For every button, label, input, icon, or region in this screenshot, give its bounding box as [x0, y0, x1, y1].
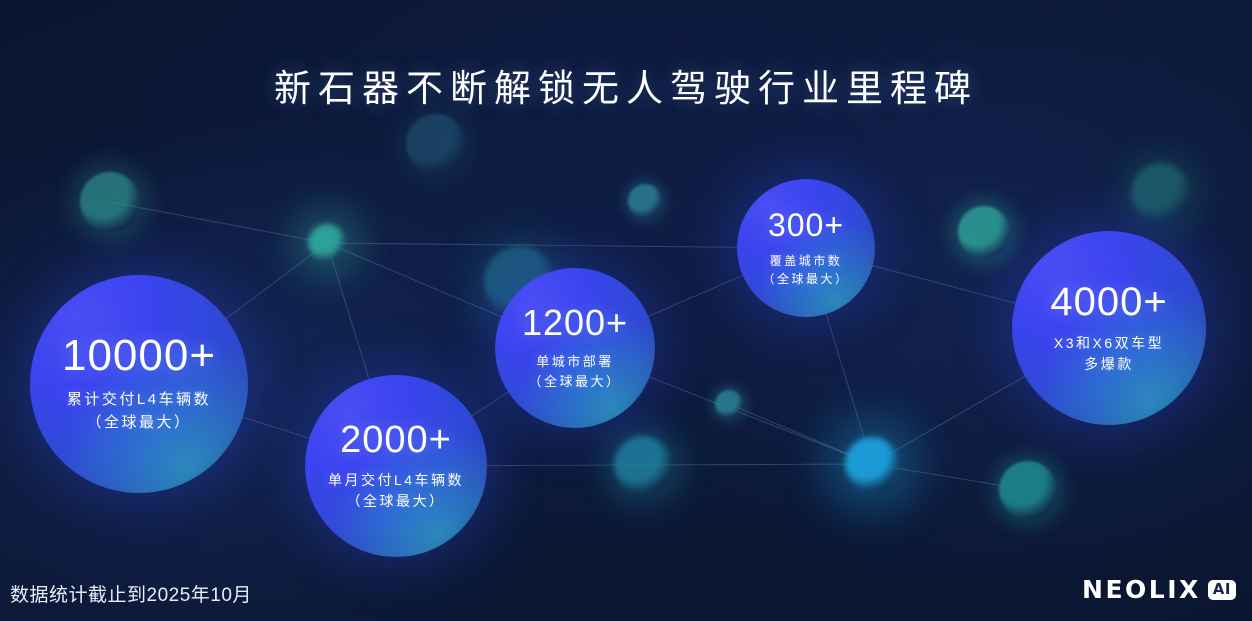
stat-label-line: 单月交付L4车辆数 [328, 470, 464, 491]
stat-label: 覆盖城市数（全球最大） [762, 252, 849, 288]
stat-label: X3和X6双车型多爆款 [1054, 333, 1164, 375]
stat-label-line: （全球最大） [528, 372, 621, 392]
stat-label-line: 累计交付L4车辆数 [67, 389, 211, 412]
logo-ai-badge: AI [1208, 580, 1236, 600]
stat-label-line: X3和X6双车型 [1054, 333, 1164, 354]
connection-line [643, 464, 872, 465]
decorative-node [614, 436, 672, 494]
decorative-node [1131, 163, 1191, 223]
stat-label-line: （全球最大） [328, 491, 464, 512]
decorative-node [845, 437, 899, 491]
infographic-canvas: 新石器不断解锁无人驾驶行业里程碑 10000+累计交付L4车辆数（全球最大）20… [0, 0, 1252, 621]
stat-value: 1200+ [522, 305, 628, 341]
decorative-node [80, 172, 140, 232]
data-cutoff-note: 数据统计截止到2025年10月 [10, 580, 252, 607]
neolix-logo: NEOLIX AI [1082, 575, 1236, 604]
stat-value: 2000+ [340, 421, 452, 459]
logo-wordmark: NEOLIX [1082, 575, 1201, 604]
stat-label-line: 单城市部署 [528, 352, 621, 372]
stat-value: 4000+ [1050, 282, 1167, 322]
stat-value: 10000+ [62, 334, 216, 378]
decorative-node [715, 390, 743, 418]
decorative-node [628, 184, 662, 218]
decorative-node [308, 224, 346, 262]
decorative-node [958, 206, 1010, 258]
stat-label-line: （全球最大） [762, 270, 849, 288]
connection-line [327, 243, 806, 248]
stat-label: 单城市部署（全球最大） [528, 352, 621, 391]
decorative-node [999, 461, 1057, 519]
stat-value: 300+ [768, 209, 844, 241]
stat-bubble-cities-covered[interactable]: 300+覆盖城市数（全球最大） [737, 179, 875, 317]
stat-label-line: 覆盖城市数 [762, 252, 849, 270]
stat-label-line: （全球最大） [67, 412, 211, 435]
stat-bubble-cumulative-delivery[interactable]: 10000+累计交付L4车辆数（全球最大） [30, 275, 248, 493]
stat-label: 累计交付L4车辆数（全球最大） [67, 389, 211, 434]
stat-bubble-monthly-delivery[interactable]: 2000+单月交付L4车辆数（全球最大） [305, 375, 487, 557]
stat-label-line: 多爆款 [1054, 354, 1164, 375]
page-title: 新石器不断解锁无人驾驶行业里程碑 [0, 58, 1252, 112]
connection-line [110, 202, 327, 243]
stat-bubble-single-city-deployment[interactable]: 1200+单城市部署（全球最大） [495, 268, 655, 428]
stat-label: 单月交付L4车辆数（全球最大） [328, 470, 464, 512]
stat-bubble-vehicle-models[interactable]: 4000+X3和X6双车型多爆款 [1012, 231, 1206, 425]
decorative-node [406, 114, 466, 174]
